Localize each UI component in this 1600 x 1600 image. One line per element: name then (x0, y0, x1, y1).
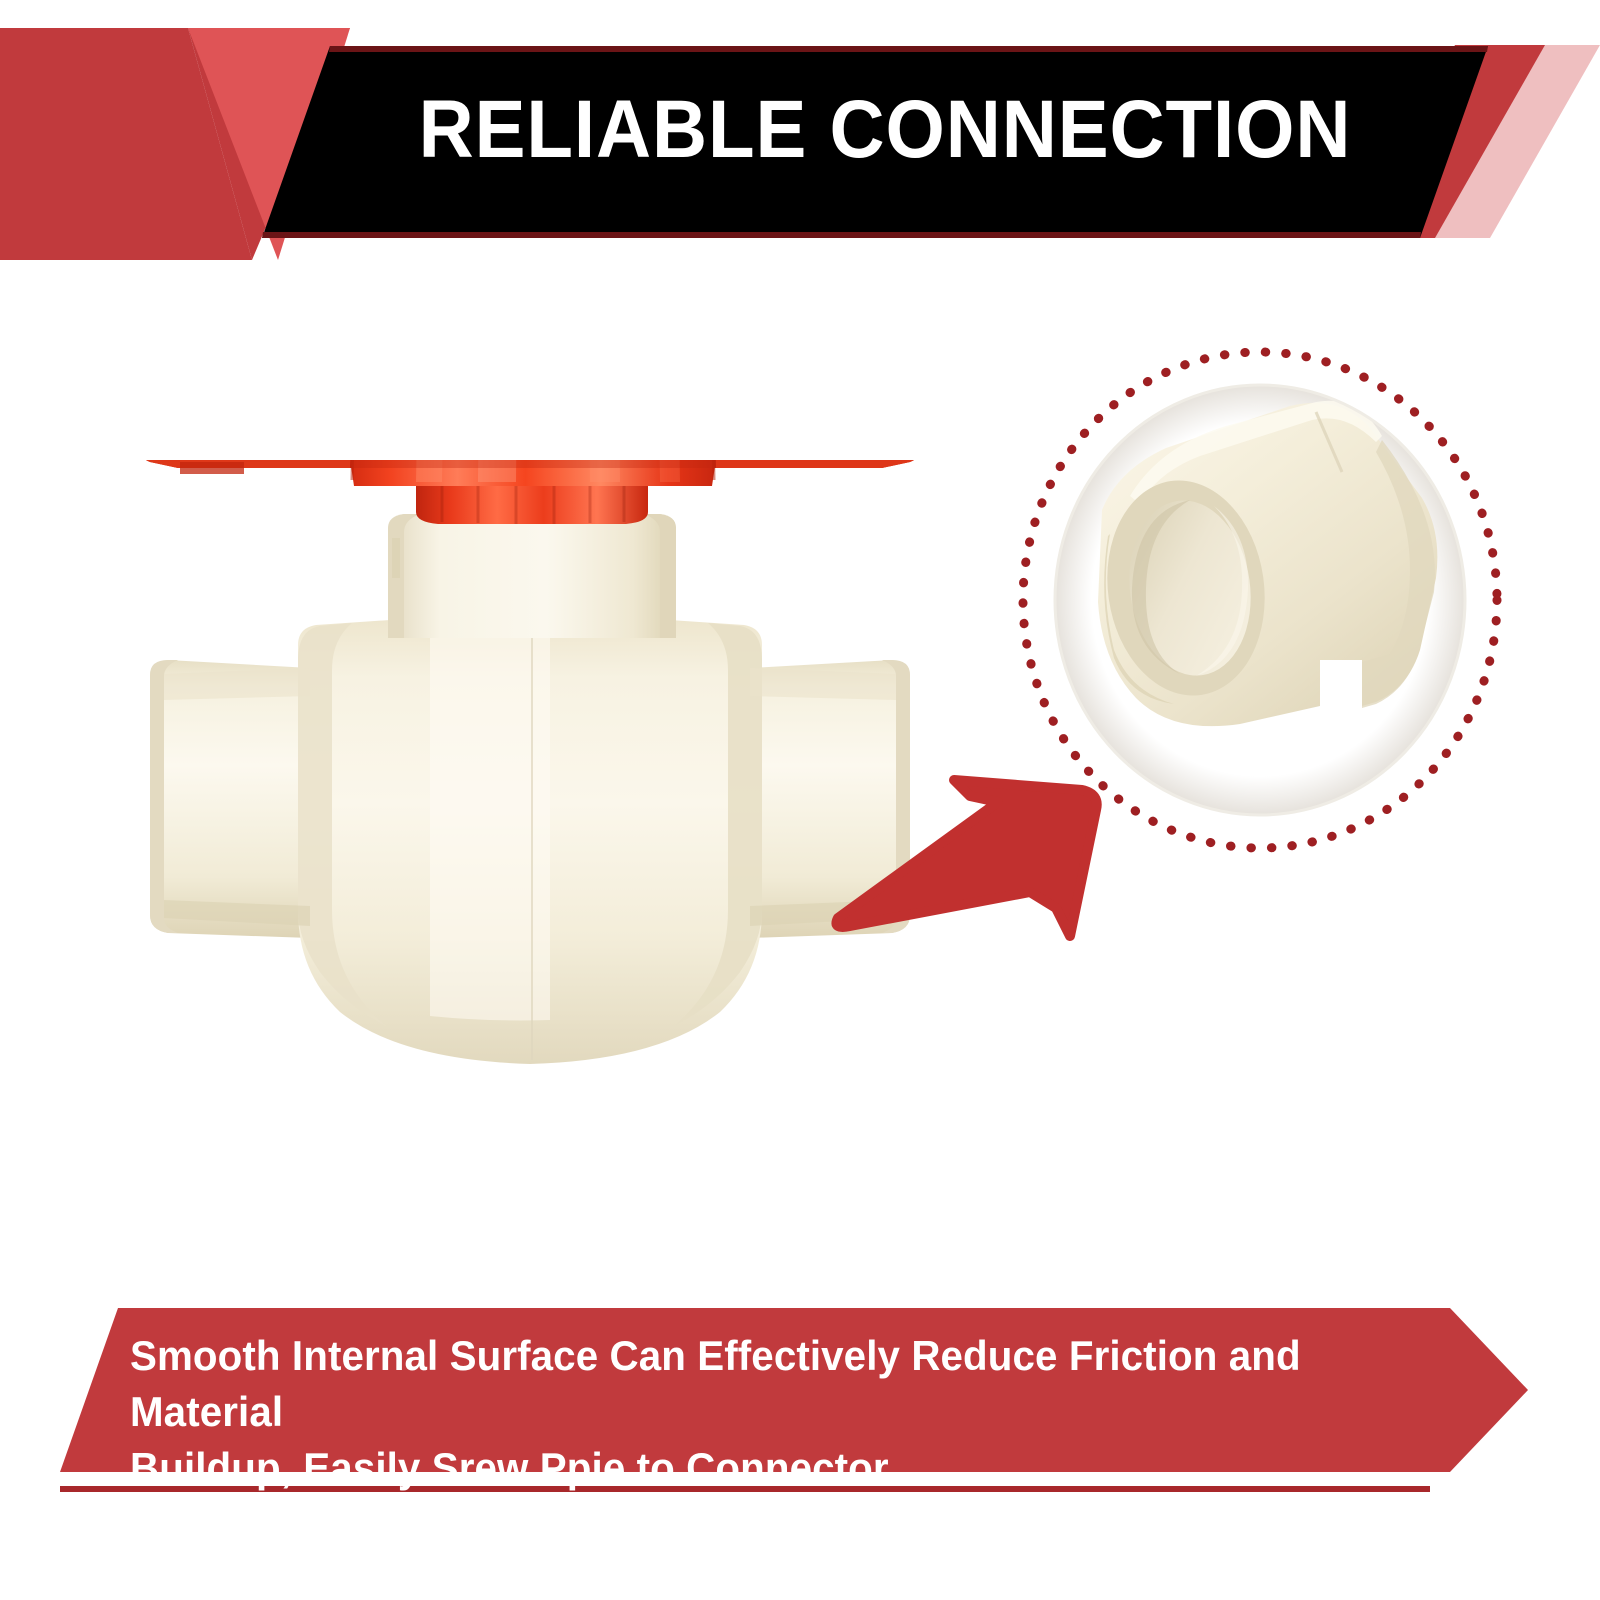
valve-bonnet-notch (392, 538, 400, 578)
caption-line-2: Buildup, Easily Srew Ppie to Connector. (130, 1440, 1368, 1496)
pointer-arrow (820, 750, 1120, 950)
arrow-shape (837, 780, 1097, 936)
header-bar-bottom-rim (262, 232, 1421, 238)
handle-bottom-skirt (134, 460, 926, 468)
header-banner: RELIABLE CONNECTION (0, 0, 1600, 260)
page-title: RELIABLE CONNECTION (369, 70, 1401, 190)
product-illustration-area (0, 260, 1600, 1290)
caption-banner: Smooth Internal Surface Can Effectively … (0, 1290, 1600, 1520)
infographic-page: RELIABLE CONNECTION (0, 0, 1600, 1600)
caption-text: Smooth Internal Surface Can Effectively … (130, 1328, 1368, 1496)
handle-bottom-tab (180, 462, 244, 474)
caption-line-1: Smooth Internal Surface Can Effectively … (130, 1328, 1368, 1440)
valve-bonnet (388, 514, 676, 638)
header-bar-top-rim (329, 46, 1488, 52)
valve-left-socket (150, 660, 310, 938)
